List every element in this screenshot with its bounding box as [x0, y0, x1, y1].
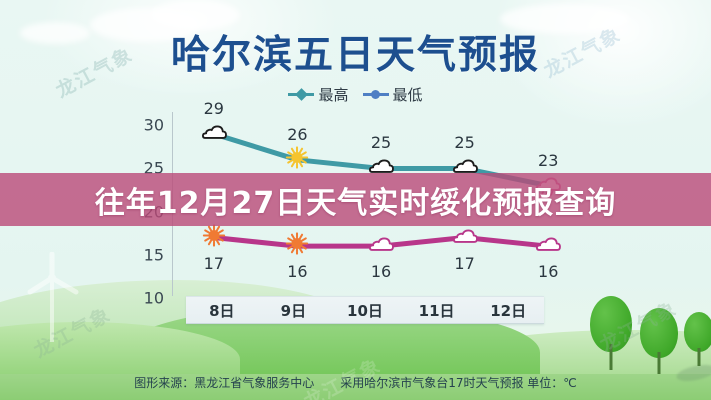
x-axis-day-label: 8日 [186, 300, 258, 321]
tree-crown [684, 312, 711, 352]
x-axis-day-label: 10日 [329, 300, 401, 321]
tree-trunk [658, 352, 661, 374]
footer: 图形来源：黑龙江省气象服务中心 采用哈尔滨市气象台17时天气预报 单位：℃ [0, 374, 711, 391]
x-axis-day-label: 9日 [258, 300, 330, 321]
overlay-banner: 龙江气象 往年12月27日天气实时绥化预报查询 [0, 173, 711, 226]
footer-source: 图形来源：黑龙江省气象服务中心 [134, 374, 314, 391]
legend-swatch-low [363, 93, 389, 96]
y-axis-tick-label: 30 [144, 116, 164, 135]
weather-forecast-graphic: 龙江气象 龙江气象 龙江气象 龙江气象 哈尔滨五日天气预报 最高 最低 3025… [0, 0, 711, 400]
tree-trunk [698, 348, 701, 366]
cloud-icon [198, 119, 230, 148]
cloud-icon [365, 232, 397, 261]
overlay-banner-text: 往年12月27日天气实时绥化预报查询 [95, 178, 617, 222]
data-label-low: 16 [538, 262, 558, 281]
y-axis-tick-label: 15 [144, 245, 164, 264]
cloud-icon [532, 232, 564, 261]
cloud-icon [449, 223, 481, 252]
data-label-high: 23 [538, 151, 558, 170]
legend-swatch-high [288, 93, 314, 96]
tree-3 [682, 312, 711, 366]
page-title: 哈尔滨五日天气预报 [0, 24, 711, 80]
sun-icon [281, 145, 313, 174]
data-label-low: 17 [204, 254, 224, 273]
data-label-high: 26 [287, 125, 307, 144]
data-label-low: 17 [454, 254, 474, 273]
x-axis-day-label: 11日 [401, 300, 473, 321]
y-axis-tick-label: 10 [144, 289, 164, 308]
chart-legend: 最高 最低 [0, 84, 711, 105]
data-label-high: 25 [454, 133, 474, 152]
legend-label-low: 最低 [393, 84, 423, 105]
data-label-high: 25 [371, 133, 391, 152]
sun-icon [198, 223, 230, 252]
sun-icon [281, 232, 313, 261]
data-label-high: 29 [204, 99, 224, 118]
circle-marker-icon [371, 90, 380, 99]
diamond-marker-icon [295, 88, 308, 101]
footer-method: 采用哈尔滨市气象台17时天气预报 单位：℃ [340, 374, 577, 391]
legend-item-high: 最高 [288, 84, 348, 105]
data-label-low: 16 [287, 262, 307, 281]
legend-item-low: 最低 [363, 84, 423, 105]
data-label-low: 16 [371, 262, 391, 281]
legend-label-high: 最高 [318, 84, 348, 105]
x-axis-day-label: 12日 [472, 300, 544, 321]
x-axis-day-panel: 8日9日10日11日12日 [186, 296, 544, 324]
